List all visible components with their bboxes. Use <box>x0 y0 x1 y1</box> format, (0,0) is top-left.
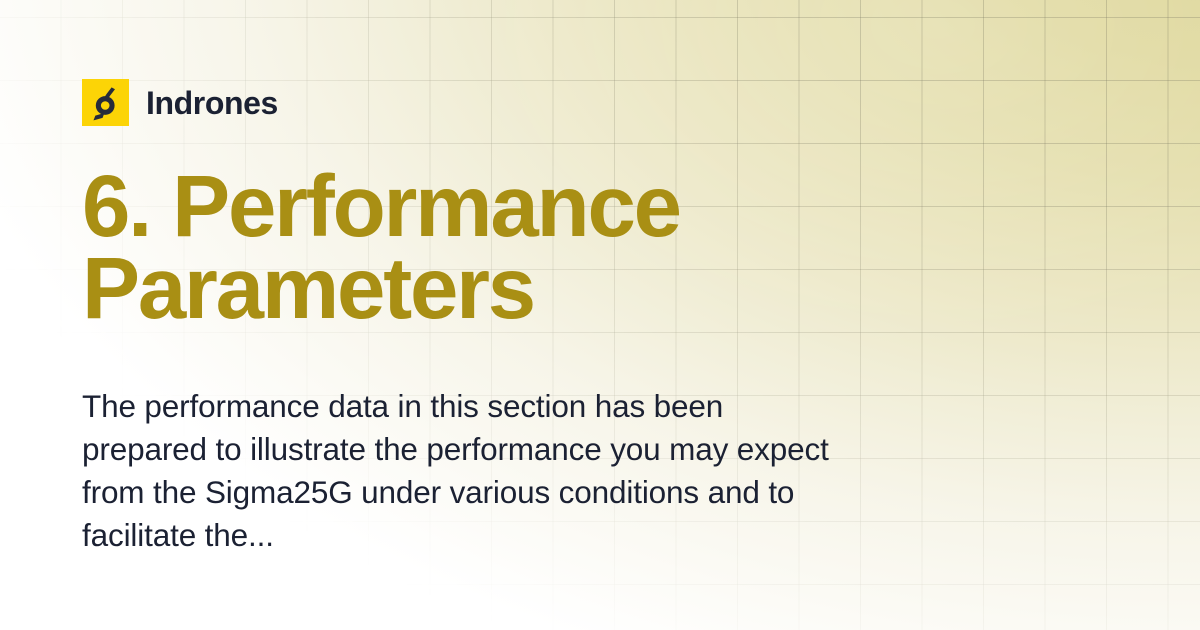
brand-name: Indrones <box>146 87 278 119</box>
share-card: Indrones 6. Performance Parameters The p… <box>0 0 1200 630</box>
drone-logo-icon <box>82 79 129 126</box>
page-description: The performance data in this section has… <box>82 385 852 557</box>
card-content: Indrones 6. Performance Parameters The p… <box>82 0 1122 630</box>
brand-lockup[interactable]: Indrones <box>82 79 278 126</box>
page-title: 6. Performance Parameters <box>82 166 842 330</box>
